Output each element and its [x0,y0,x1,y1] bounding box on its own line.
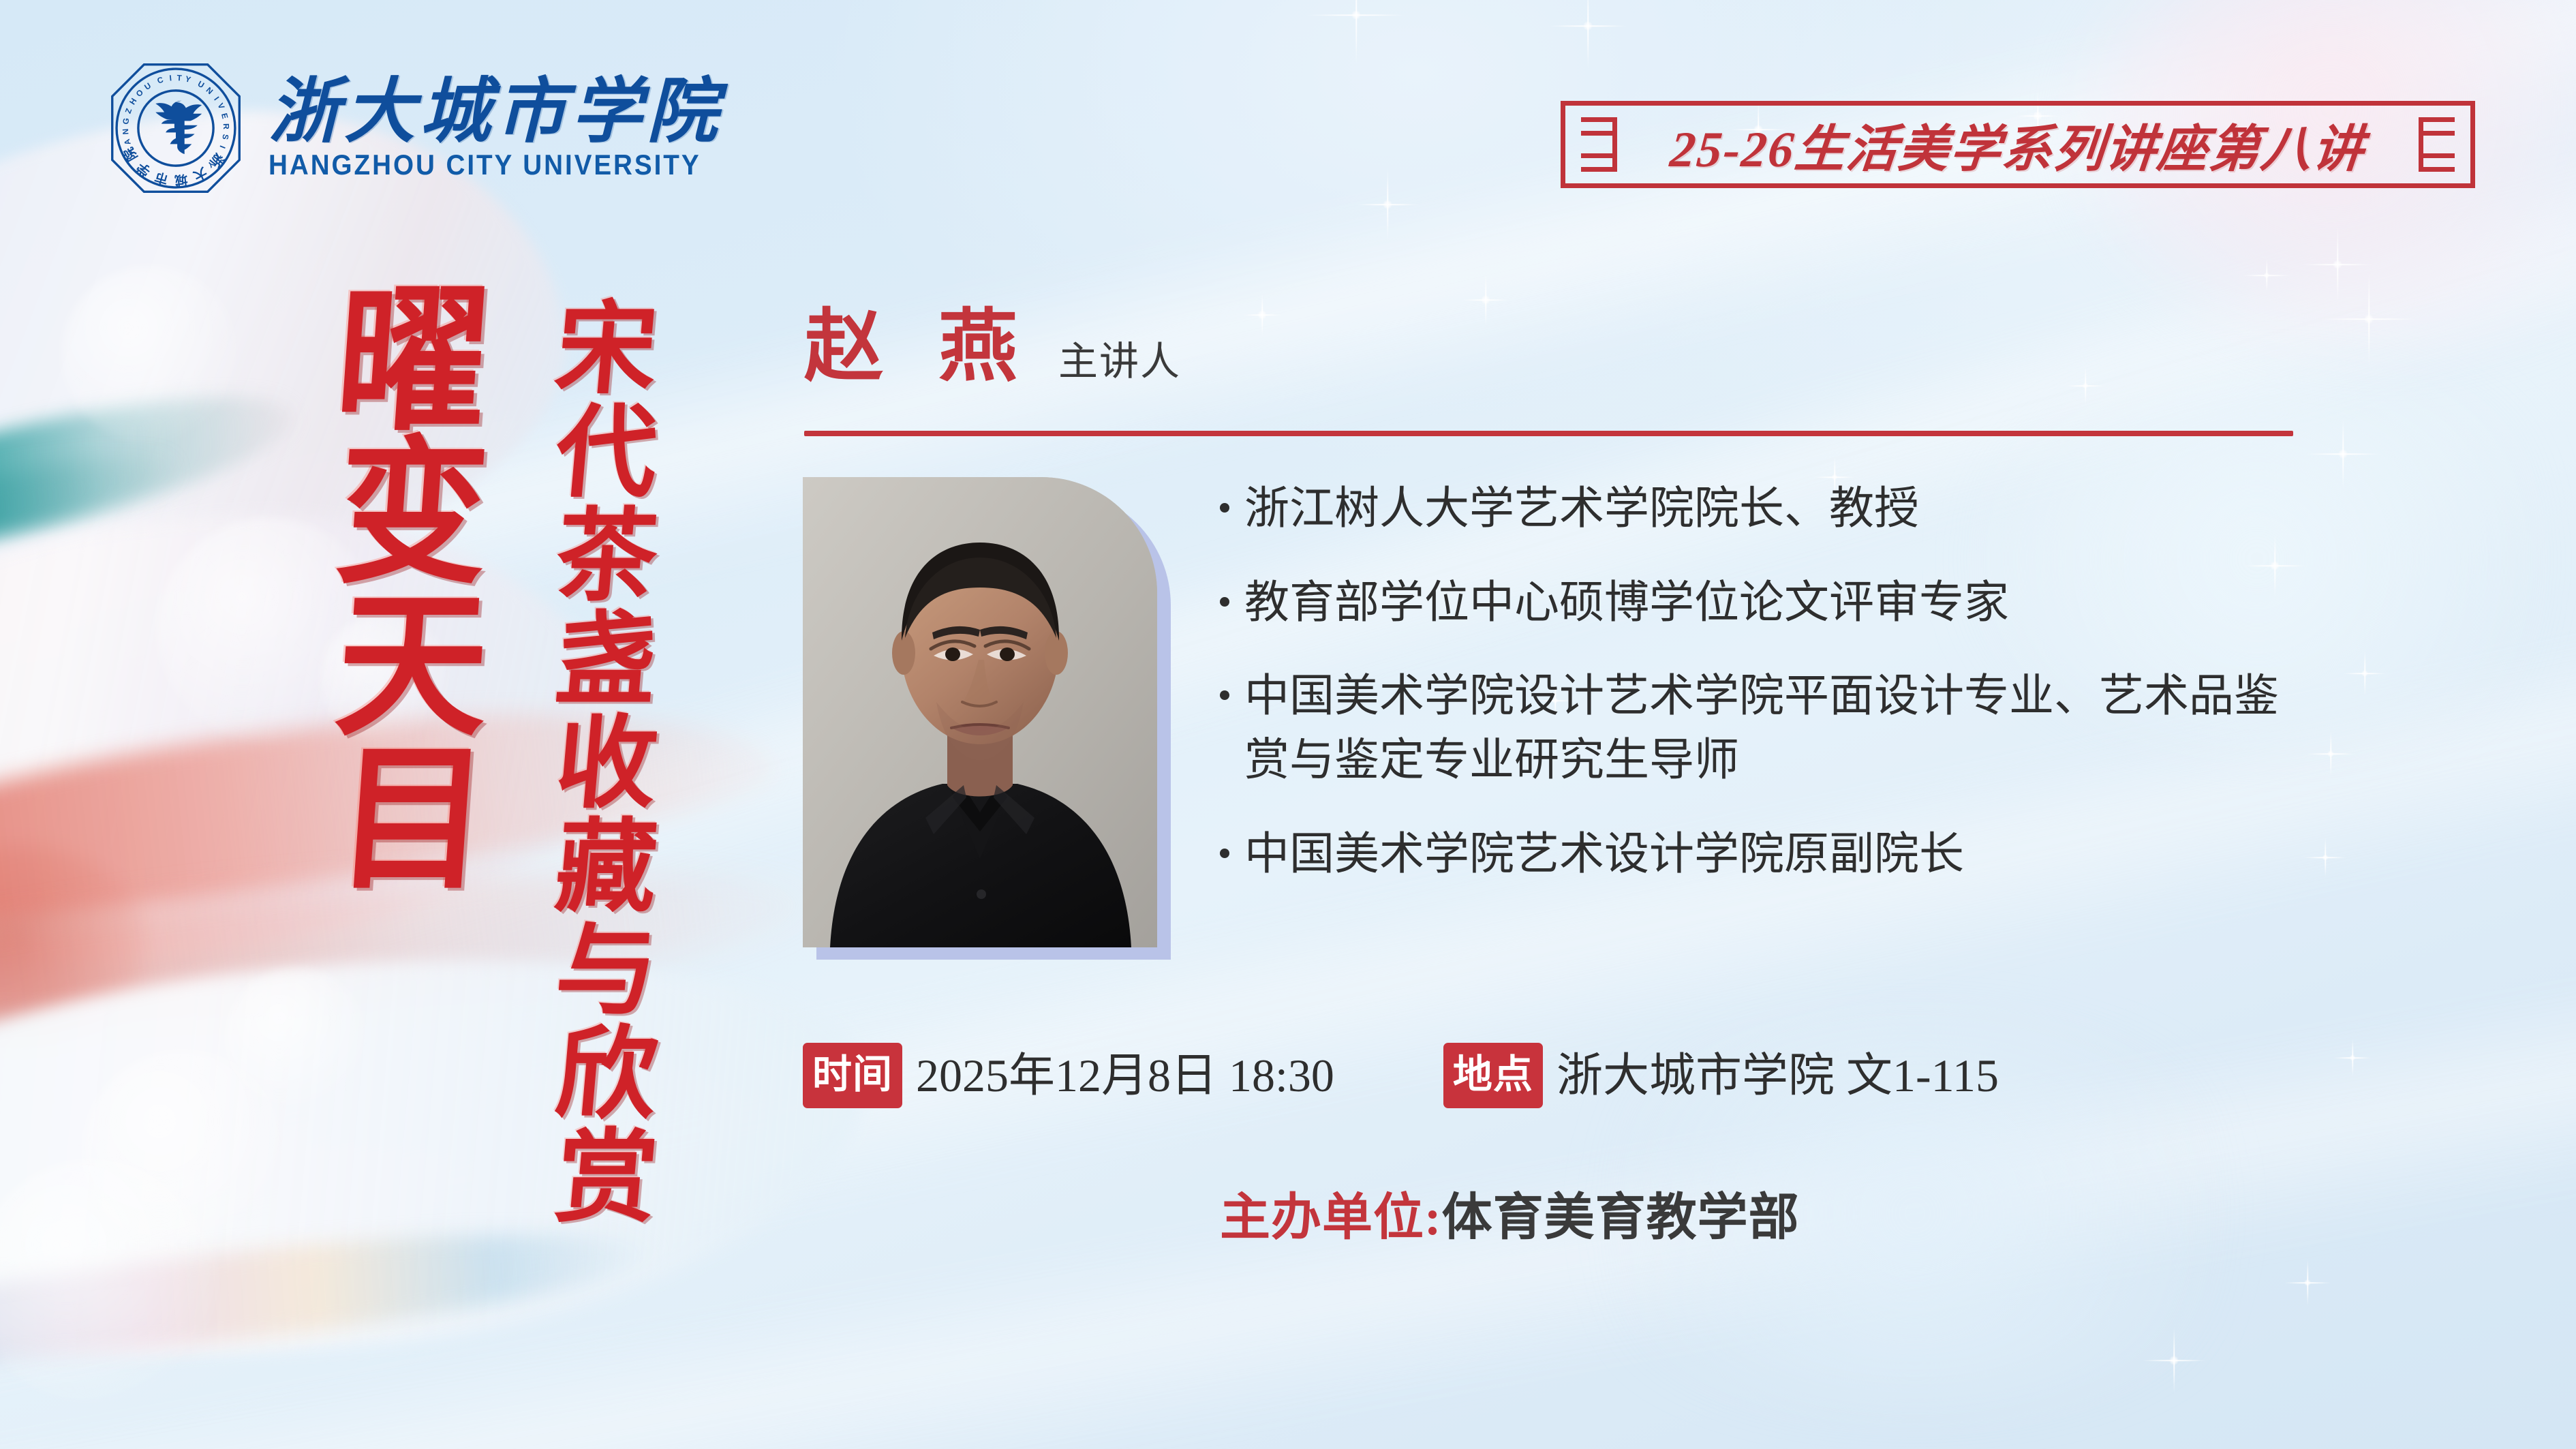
subtitle-char: 欣 [552,1025,662,1126]
subtitle-char: 茶 [552,507,662,608]
bokeh-circle [225,968,368,1111]
university-seal-icon: H A N G Z H O U C I T Y U N I V E [104,56,248,200]
svg-text:S: S [220,134,230,140]
svg-text:O: O [134,87,145,98]
university-logo: H A N G Z H O U C I T Y U N I V E [104,56,739,200]
silk-ribbon-iridescent [0,1208,656,1388]
subtitle-char: 宋 [552,300,662,401]
subtitle-char: 盏 [552,611,662,712]
speaker-name: 赵 燕 [804,308,1035,387]
event-location: 地点 浙大城市学院 文1-115 [1443,1043,1999,1108]
lecture-title-subtitle: 宋 代 茶 盏 收 藏 与 欣 赏 [538,300,675,1230]
list-item: 浙江树人大学艺术学院院长、教授 [1220,477,2317,541]
organizer-value: 体育美育教学部 [1442,1193,1800,1243]
subtitle-char: 代 [552,403,662,504]
subtitle-char: 赏 [552,1129,662,1230]
speaker-header: 赵 燕 主讲人 [804,308,1181,387]
subtitle-char: 收 [552,714,662,815]
event-time: 时间 2025年12月8日 18:30 [803,1043,1334,1108]
logo-chinese-name: 浙大城市学院 [269,77,739,148]
time-value: 2025年12月8日 18:30 [916,1052,1334,1099]
title-char: 天 [332,596,493,740]
lecture-title-main: 曜 变 天 目 [310,293,515,891]
organizer-label: 主办单位: [1220,1193,1442,1243]
svg-text:T: T [177,73,183,83]
bullet-dot-icon [1220,849,1229,858]
svg-text:N: N [204,85,215,96]
divider-rule [804,431,2293,436]
svg-text:E: E [219,112,230,120]
credential-text: 浙江树人大学艺术学院院长、教授 [1244,477,1919,541]
svg-text:V: V [215,102,226,110]
bokeh-circle [61,266,239,443]
svg-text:U: U [196,79,206,90]
logo-english-name: HANGZHOU CITY UNIVERSITY [269,151,701,179]
title-char: 目 [332,749,493,894]
svg-text:I: I [217,144,227,150]
bullet-dot-icon [1220,690,1229,700]
subtitle-char: 藏 [552,818,662,919]
svg-text:Y: Y [184,74,191,85]
banner-title: 25-26生活美学系列讲座第八讲 [1557,101,2479,188]
subtitle-char: 与 [552,921,662,1022]
credential-text: 中国美术学院设计艺术学院平面设计专业、艺术品鉴赏与鉴定专业研究生导师 [1244,665,2317,792]
svg-text:城: 城 [174,172,188,189]
event-info-row: 时间 2025年12月8日 18:30 地点 浙大城市学院 文1-115 [803,1043,1999,1108]
silk-ribbon [0,918,887,1399]
svg-text:Z: Z [123,107,134,115]
svg-text:学: 学 [134,159,153,179]
svg-text:院: 院 [121,144,140,164]
speaker-portrait [803,477,1157,947]
svg-text:大: 大 [191,164,210,184]
silk-ribbon-teal [0,365,305,581]
credential-text: 教育部学位中心硕博学位论文评审专家 [1244,571,2009,635]
bokeh-circle [82,1050,286,1254]
bullet-dot-icon [1220,597,1229,607]
svg-text:R: R [221,123,231,129]
svg-text:C: C [156,75,165,86]
silk-ribbon-teal [0,438,179,577]
list-item: 中国美术学院艺术设计学院原副院长 [1220,823,2317,887]
bullet-dot-icon [1220,503,1229,513]
title-char: 曜 [332,290,493,435]
speaker-credentials-list: 浙江树人大学艺术学院院长、教授 教育部学位中心硕博学位论文评审专家 中国美术学院… [1220,477,2317,917]
list-item: 中国美术学院设计艺术学院平面设计专业、艺术品鉴赏与鉴定专业研究生导师 [1220,665,2317,792]
svg-text:H: H [127,96,138,106]
list-item: 教育部学位中心硕博学位论文评审专家 [1220,571,2317,635]
svg-text:I: I [212,95,221,102]
location-value: 浙大城市学院 文1-115 [1557,1052,1999,1099]
time-badge: 时间 [803,1043,902,1108]
svg-text:I: I [169,73,172,82]
speaker-role-label: 主讲人 [1058,342,1181,387]
credential-text: 中国美术学院艺术设计学院原副院长 [1244,823,1964,887]
svg-text:A: A [122,138,133,147]
lecture-series-banner: 25-26生活美学系列讲座第八讲 [1561,101,2475,188]
silk-highlight [0,845,150,1050]
poster-canvas: H A N G Z H O U C I T Y U N I V E [0,0,2576,1449]
bokeh-circle [0,1159,218,1404]
svg-text:N: N [121,128,131,135]
location-badge: 地点 [1443,1043,1543,1108]
organizer-line: 主办单位: 体育美育教学部 [1220,1193,1800,1243]
svg-text:U: U [142,80,153,91]
svg-text:G: G [121,117,131,125]
title-char: 变 [332,443,493,588]
